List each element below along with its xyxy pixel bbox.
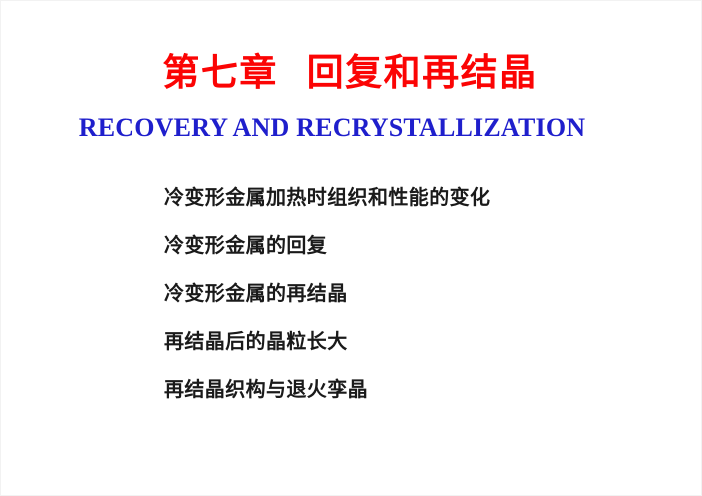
list-item: 冷变形金属加热时组织和性能的变化: [164, 187, 644, 235]
outline-list: 冷变形金属加热时组织和性能的变化 冷变形金属的回复 冷变形金属的再结晶 再结晶后…: [164, 187, 644, 427]
list-item: 冷变形金属的再结晶: [164, 283, 644, 331]
presentation-slide: 第七章 回复和再结晶 RECOVERY AND RECRYSTALLIZATIO…: [0, 0, 702, 496]
subtitle-block: RECOVERY AND RECRYSTALLIZATION: [1, 113, 702, 142]
list-item: 再结晶后的晶粒长大: [164, 331, 644, 379]
page-subtitle: RECOVERY AND RECRYSTALLIZATION: [79, 113, 585, 142]
list-item: 冷变形金属的回复: [164, 235, 644, 283]
page-title: 第七章 回复和再结晶: [162, 53, 537, 93]
title-block: 第七章 回复和再结晶: [1, 53, 702, 93]
list-item: 再结晶织构与退火孪晶: [164, 379, 644, 427]
